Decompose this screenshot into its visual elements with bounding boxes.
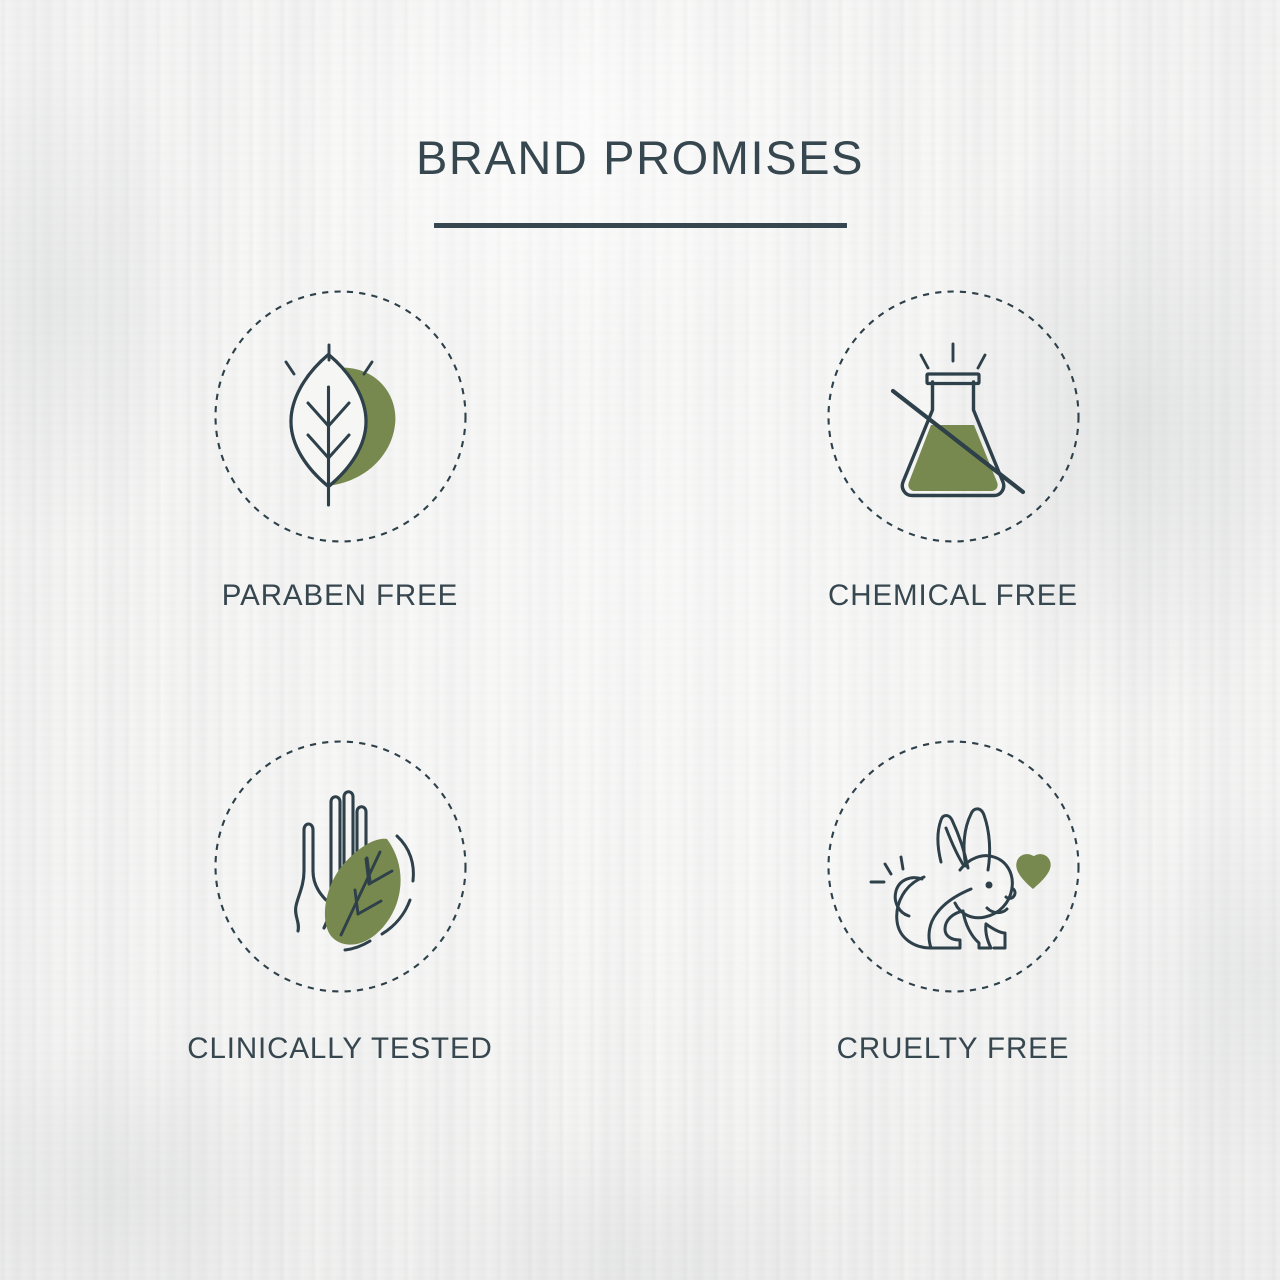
promise-label-paraben-free: PARABEN FREE bbox=[222, 579, 458, 613]
promise-item-chemical-free[interactable]: CHEMICAL FREE bbox=[640, 290, 1280, 740]
page-title: BRAND PROMISES bbox=[0, 134, 1280, 181]
flask-collar bbox=[927, 374, 979, 384]
heading-block: BRAND PROMISES bbox=[0, 134, 1280, 228]
promise-label-chemical-free: CHEMICAL FREE bbox=[828, 579, 1078, 613]
sparkle-lines bbox=[871, 857, 903, 882]
green-heart bbox=[1016, 854, 1050, 889]
leaf-sparkle-icon bbox=[214, 290, 467, 543]
hand-leaf-icon bbox=[214, 740, 467, 993]
rabbit-outline bbox=[895, 809, 1015, 948]
promise-item-clinically-tested[interactable]: CLINICALLY TESTED bbox=[0, 740, 640, 1190]
title-divider bbox=[434, 223, 847, 228]
badge-cruelty-free[interactable] bbox=[827, 740, 1080, 993]
promise-item-cruelty-free[interactable]: CRUELTY FREE bbox=[640, 740, 1280, 1190]
badge-chemical-free[interactable] bbox=[827, 290, 1080, 543]
rabbit-eye bbox=[985, 882, 992, 889]
badge-paraben-free[interactable] bbox=[214, 290, 467, 543]
promise-label-clinically-tested: CLINICALLY TESTED bbox=[187, 1032, 493, 1066]
rabbit-heart-icon bbox=[827, 740, 1080, 993]
promise-label-cruelty-free: CRUELTY FREE bbox=[837, 1032, 1070, 1066]
no-chemical-flask-icon bbox=[827, 290, 1080, 543]
dashed-circle bbox=[828, 292, 1078, 542]
badge-clinically-tested[interactable] bbox=[214, 740, 467, 993]
promise-grid: PARABEN FREE bbox=[0, 290, 1280, 1190]
sparkle-lines bbox=[921, 344, 985, 368]
brand-promises-page: BRAND PROMISES bbox=[0, 0, 1280, 1280]
promise-item-paraben-free[interactable]: PARABEN FREE bbox=[0, 290, 640, 740]
